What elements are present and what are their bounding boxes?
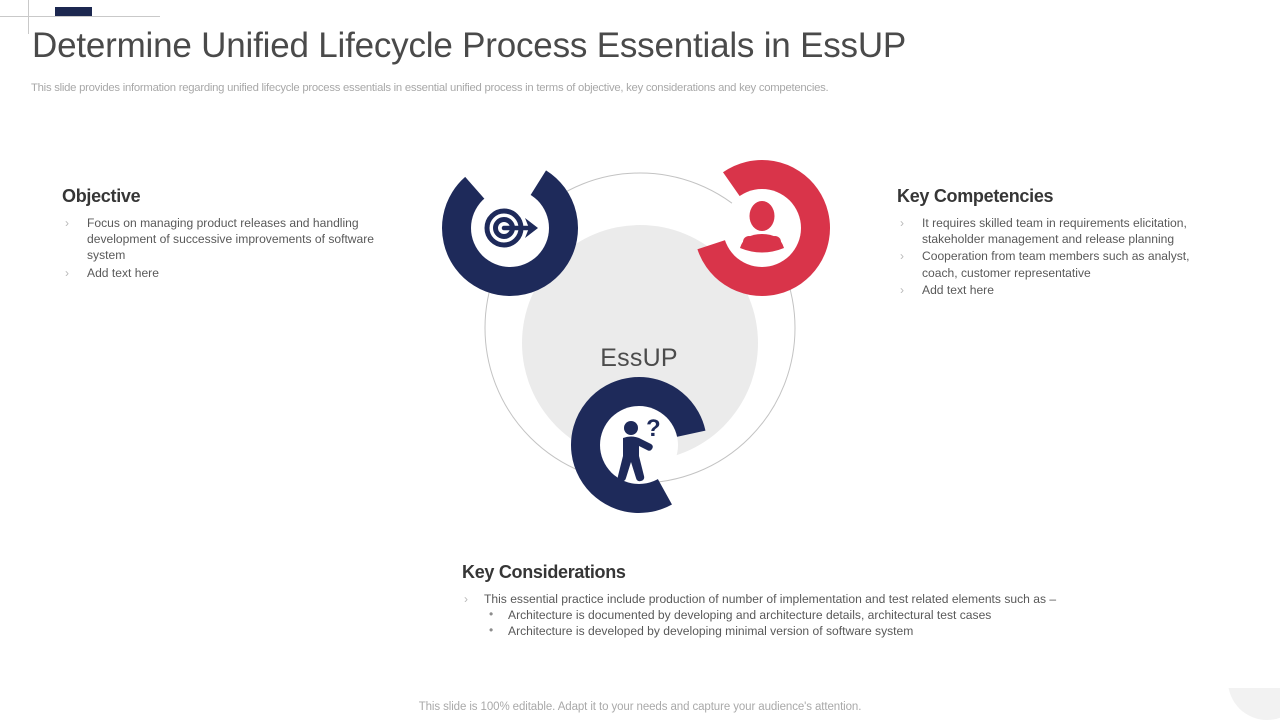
sub-list-item: • Architecture is developed by developin… — [484, 623, 1062, 639]
key-considerations-bullet-list: › This essential practice include produc… — [462, 591, 1062, 640]
chevron-right-icon: › — [900, 215, 904, 231]
list-item-text: Add text here — [922, 283, 994, 297]
page-subtitle: This slide provides information regardin… — [31, 82, 828, 94]
bullet-dot-icon: • — [489, 606, 493, 622]
bottom-right-decoration — [1180, 688, 1280, 720]
page-title: Determine Unified Lifecycle Process Esse… — [32, 26, 906, 66]
key-considerations-sub-list: • Architecture is documented by developi… — [484, 607, 1062, 639]
sub-list-item: • Architecture is documented by developi… — [484, 607, 1062, 623]
footer-note: This slide is 100% editable. Adapt it to… — [0, 701, 1280, 713]
list-item-text: Focus on managing product releases and h… — [87, 216, 374, 262]
list-item: › Cooperation from team members such as … — [897, 248, 1227, 280]
objective-bullet-list: › Focus on managing product releases and… — [62, 215, 392, 281]
essup-circular-diagram: ? EssUP — [440, 138, 840, 523]
chevron-right-icon: › — [65, 265, 69, 281]
list-item: › This essential practice include produc… — [462, 591, 1062, 640]
key-competencies-panel: Key Competencies › It requires skilled t… — [897, 186, 1227, 299]
objective-heading: Objective — [62, 186, 392, 207]
corner-accent-bar — [55, 7, 92, 16]
list-item: › Add text here — [62, 265, 392, 281]
list-item: › It requires skilled team in requiremen… — [897, 215, 1227, 247]
list-item: › Focus on managing product releases and… — [62, 215, 392, 264]
chevron-right-icon: › — [65, 215, 69, 231]
chevron-right-icon: › — [464, 591, 468, 607]
bullet-dot-icon: • — [489, 622, 493, 638]
corner-vertical-line — [28, 0, 29, 34]
sub-list-item-text: Architecture is developed by developing … — [508, 624, 913, 638]
key-considerations-panel: Key Considerations › This essential prac… — [462, 562, 1062, 641]
list-item-text: This essential practice include producti… — [484, 592, 1056, 606]
key-considerations-heading: Key Considerations — [462, 562, 1062, 583]
chevron-right-icon: › — [900, 248, 904, 264]
list-item-text: Add text here — [87, 266, 159, 280]
svg-text:?: ? — [646, 415, 661, 442]
key-competencies-bullet-list: › It requires skilled team in requiremen… — [897, 215, 1227, 298]
corner-horizontal-line — [0, 16, 160, 17]
key-competencies-heading: Key Competencies — [897, 186, 1227, 207]
objective-panel: Objective › Focus on managing product re… — [62, 186, 392, 282]
semicircle-shape — [1228, 688, 1280, 720]
list-item-text: Cooperation from team members such as an… — [922, 249, 1190, 279]
sub-list-item-text: Architecture is documented by developing… — [508, 608, 991, 622]
chevron-right-icon: › — [900, 282, 904, 298]
list-item-text: It requires skilled team in requirements… — [922, 216, 1187, 246]
list-item: › Add text here — [897, 282, 1227, 298]
